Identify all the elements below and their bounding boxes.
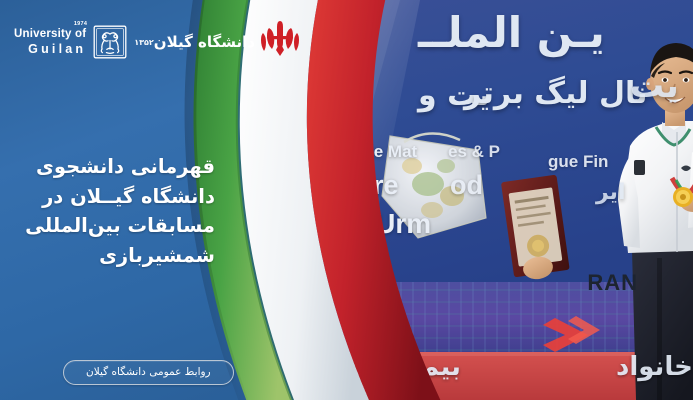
- iran-emblem-icon: [258, 16, 302, 60]
- logo-persian-text: دانشگاه گیلان ۱۳۵۲: [131, 33, 255, 51]
- logo-persian-name: دانشگاه گیلان: [154, 33, 255, 51]
- headline-line-4: شمشیربازی: [20, 241, 215, 271]
- headline-line-3: مسابقات بین‌المللی: [20, 211, 215, 241]
- logo-year-1974: 1974: [74, 22, 87, 28]
- news-banner: RAN: [0, 0, 693, 400]
- headline: قهرمانی دانشجوی دانشگاه گیــلان در مسابق…: [20, 152, 215, 271]
- headline-line-1: قهرمانی دانشجوی: [20, 152, 215, 182]
- logo-line-university-of: University of: [14, 29, 86, 41]
- logo-english-text: 1974 University of Guilan: [14, 29, 89, 55]
- headline-line-2: دانشگاه گیــلان در: [20, 182, 215, 212]
- logo-line-guilan: Guilan: [28, 43, 86, 56]
- logo-persian-year: ۱۳۵۲: [134, 38, 154, 47]
- public-relations-badge[interactable]: روابط عمومی دانشگاه گیلان: [63, 360, 234, 385]
- university-of-guilan-logo[interactable]: 1974 University of Guilan: [14, 18, 204, 66]
- scales-of-justice-icon: [93, 25, 127, 59]
- svg-text:RAN: RAN: [587, 270, 638, 295]
